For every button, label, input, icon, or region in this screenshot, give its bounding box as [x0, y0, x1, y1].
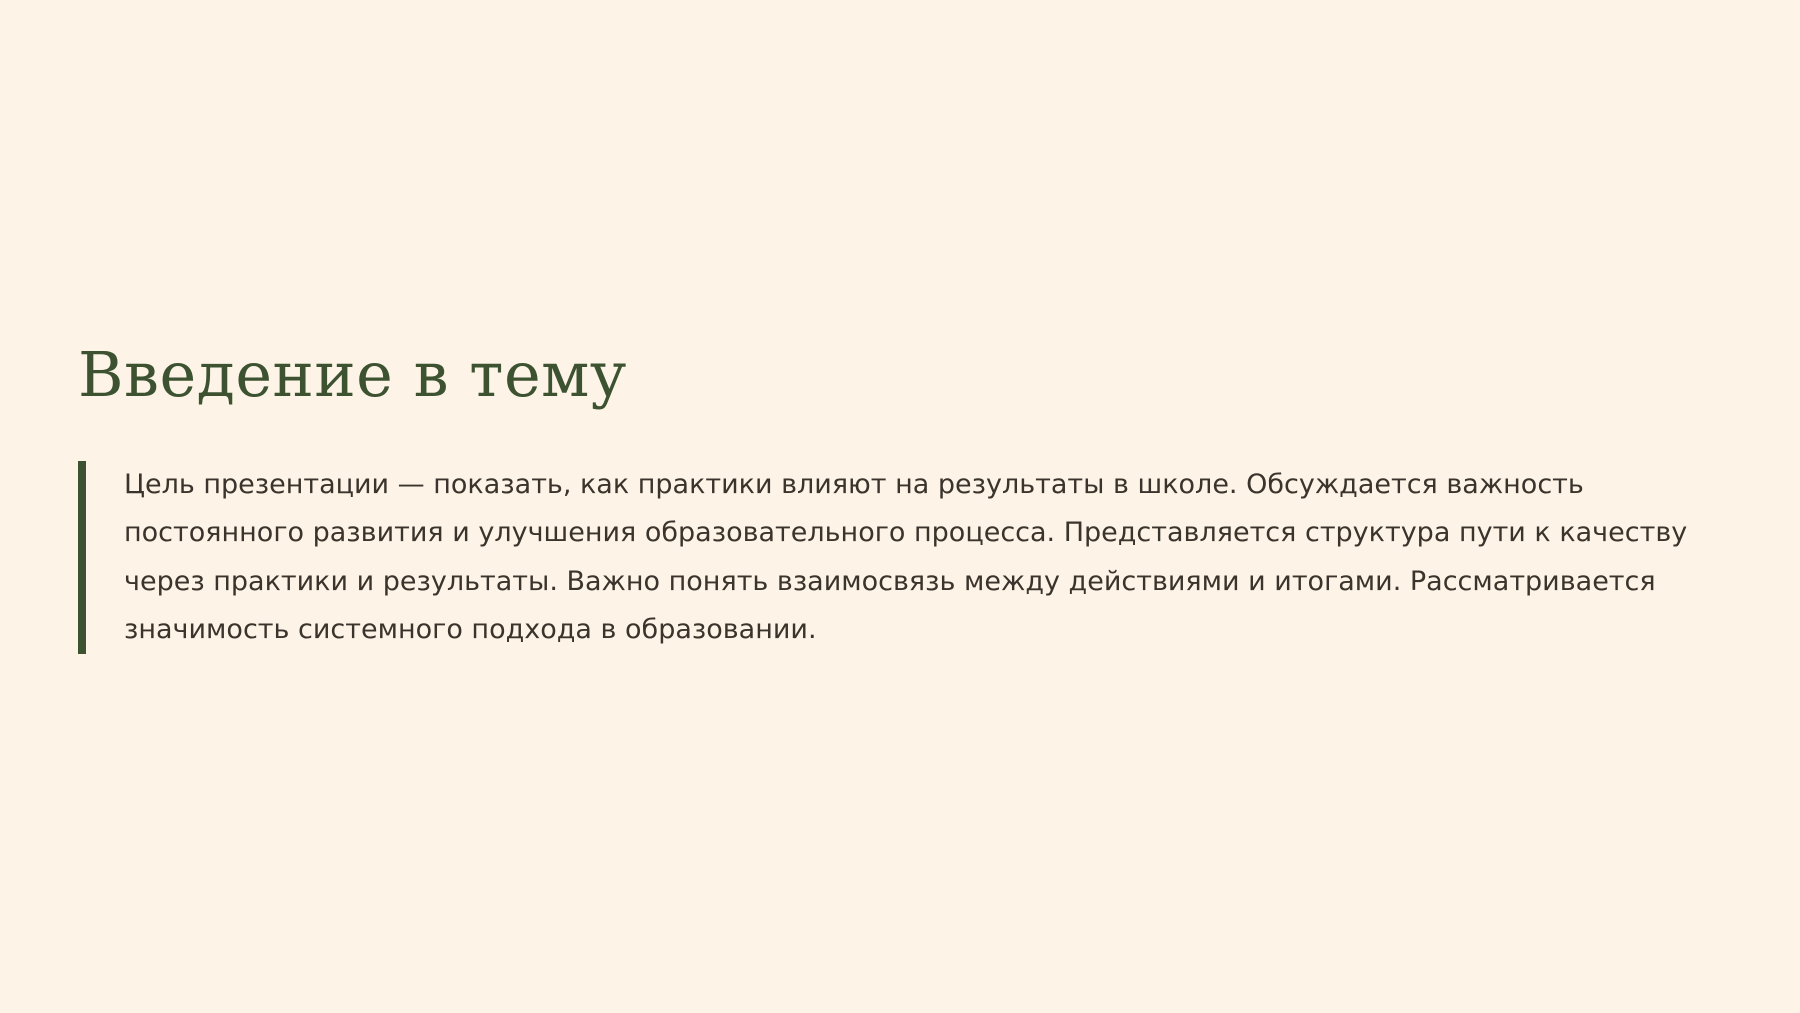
- page-title: Введение в тему: [78, 340, 1718, 409]
- slide-content: Введение в тему Цель презентации — показ…: [78, 340, 1718, 654]
- accent-bar: [78, 461, 86, 653]
- presentation-slide: Введение в тему Цель презентации — показ…: [0, 0, 1800, 1013]
- body-text-container: Цель презентации — показать, как практик…: [86, 461, 1714, 653]
- body-paragraph: Цель презентации — показать, как практик…: [124, 461, 1714, 653]
- body-callout-block: Цель презентации — показать, как практик…: [78, 461, 1718, 653]
